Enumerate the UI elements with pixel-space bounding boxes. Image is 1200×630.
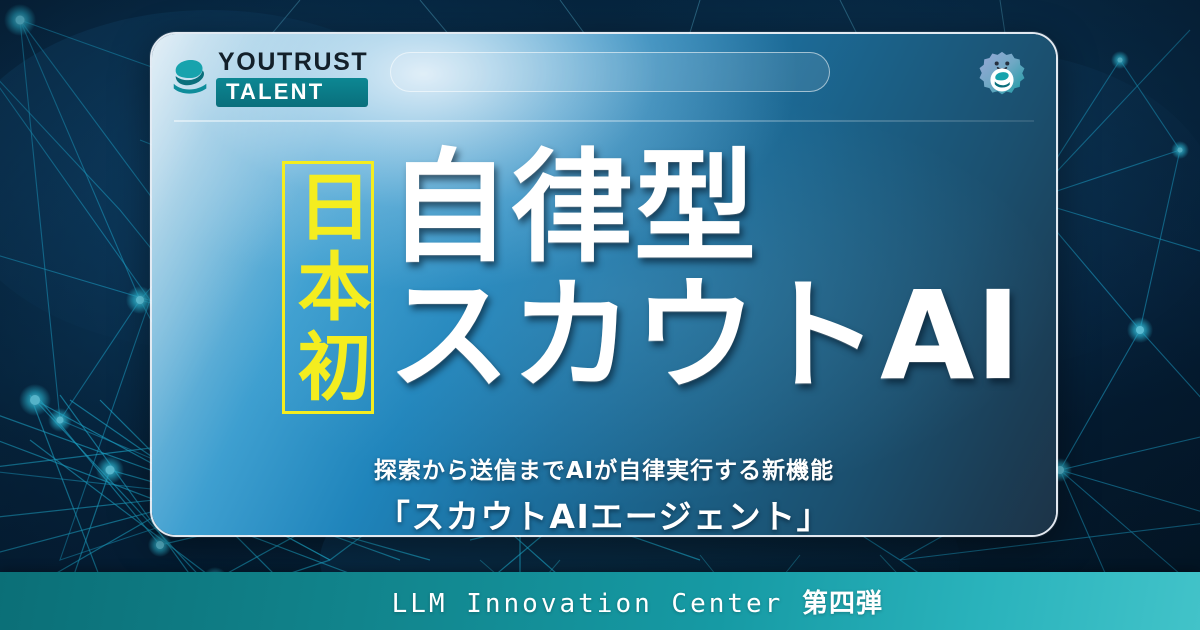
bottom-banner-text: LLM Innovation Center 第四弾 — [317, 553, 883, 630]
headline-title-stack: 自律型 スカウトAI — [388, 147, 1008, 397]
search-input[interactable] — [390, 52, 830, 92]
banner-text-en: LLM Innovation Center — [392, 589, 784, 619]
subtitle-line-2: 「スカウトAIエージェント」 — [152, 490, 1056, 537]
logo-wordmark: YOUTRUST — [216, 50, 368, 75]
bottom-banner: LLM Innovation Center 第四弾 — [0, 572, 1200, 630]
ai-agent-avatar-icon[interactable] — [975, 50, 1029, 104]
japan-first-badge-label: 日本初 — [291, 168, 365, 408]
headline-area: 日本初 自律型 スカウトAI 探索から送信までAIが自律実行する新機能 「スカウ… — [152, 129, 1056, 537]
banner-text-jp: 第四弾 — [802, 589, 883, 619]
youtrust-talent-logo[interactable]: YOUTRUST TALENT — [168, 47, 360, 109]
hero-card: YOUTRUST TALENT — [150, 32, 1058, 537]
logo-talent-banner: TALENT — [216, 78, 368, 107]
headline-line-1: 自律型 — [388, 147, 1008, 269]
card-header: YOUTRUST TALENT — [152, 34, 1056, 120]
youtrust-leaf-logo-icon — [168, 55, 214, 101]
japan-first-badge: 日本初 — [282, 161, 374, 414]
subtitle-line-1: 探索から送信までAIが自律実行する新機能 — [152, 451, 1056, 485]
header-divider — [174, 120, 1034, 122]
logo-talent-label: TALENT — [226, 79, 324, 104]
headline-line-2: スカウトAI — [388, 275, 1008, 397]
logo-text-block: YOUTRUST TALENT — [216, 50, 368, 107]
subtitle-stack: 探索から送信までAIが自律実行する新機能 「スカウトAIエージェント」 を提供開… — [152, 451, 1056, 537]
